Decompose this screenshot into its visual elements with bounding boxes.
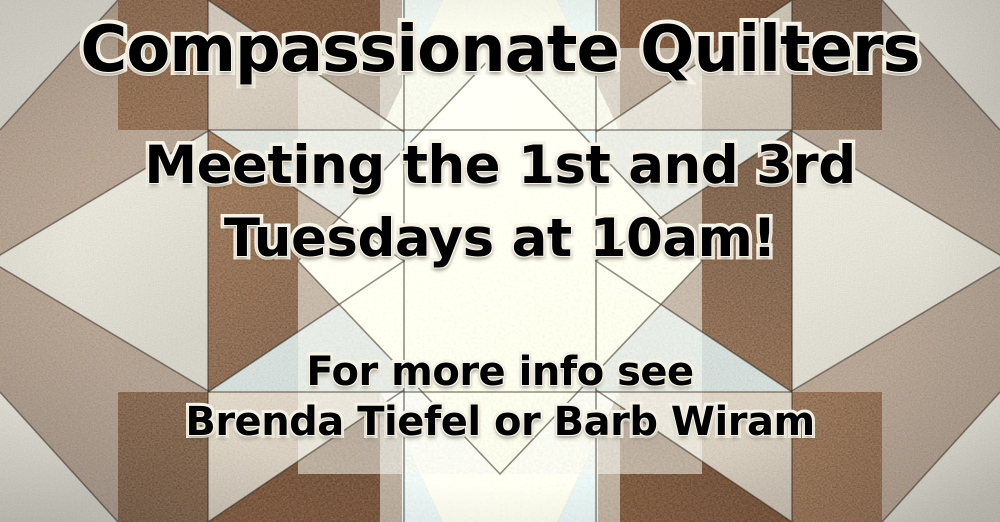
quilt-background <box>0 0 1000 522</box>
quilt-vignette <box>0 0 1000 522</box>
quilt-poster: Compassionate Quilters Meeting the 1st a… <box>0 0 1000 522</box>
